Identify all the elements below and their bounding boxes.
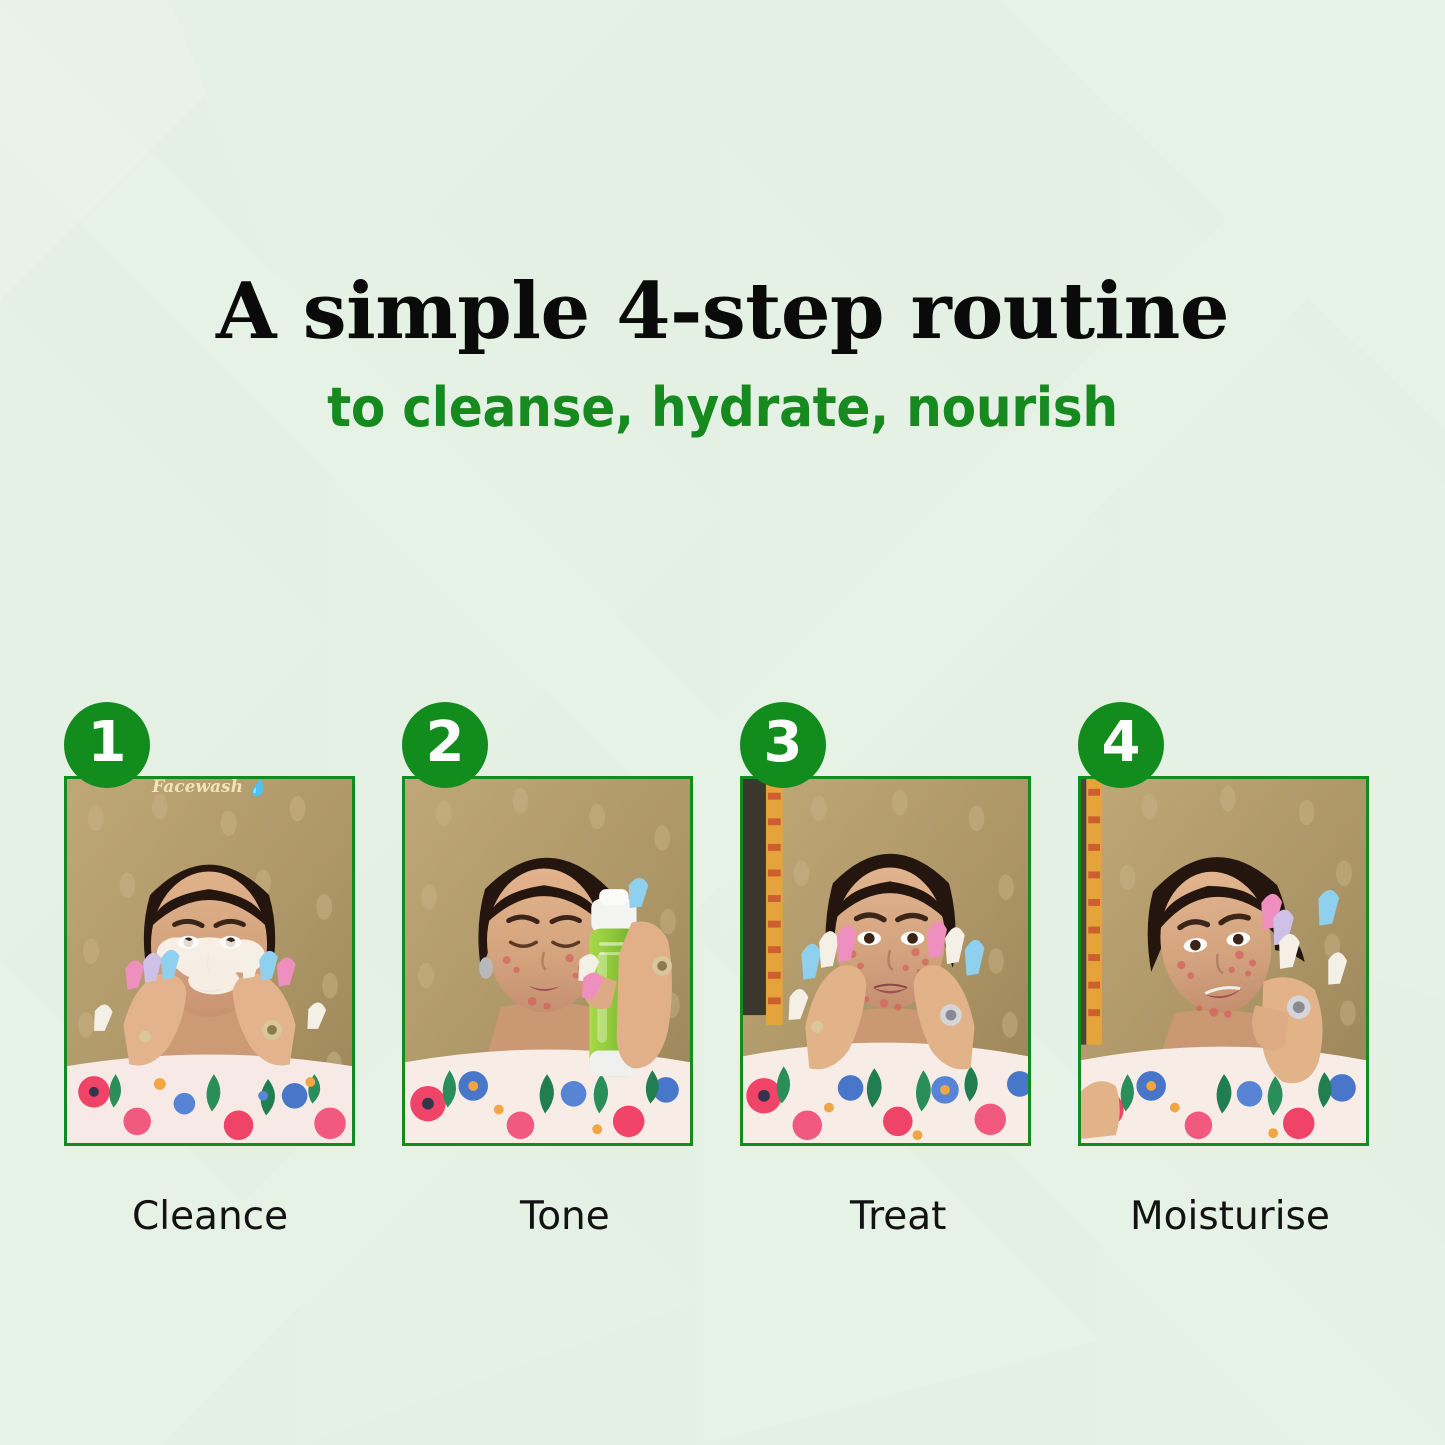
step-photo-1: Facewash 💧 [64,776,355,1146]
step-caption-2: Tone [402,1194,693,1239]
step-number-4: 4 [1102,715,1141,771]
step-caption-3: Treat [740,1194,1031,1239]
step-caption-1: Cleance [64,1194,355,1239]
step-badge-3: 3 [740,702,826,788]
page-title: A simple 4-step routine [0,272,1445,352]
step-badge-4: 4 [1078,702,1164,788]
header: A simple 4-step routine to cleanse, hydr… [0,0,1445,439]
step-number-3: 3 [764,715,803,771]
overlay-text-1: Facewash [152,777,243,797]
step-number-1: 1 [88,715,127,771]
step-photo-3 [740,776,1031,1146]
step-photo-2 [402,776,693,1146]
step-caption-4: Moisturise [1078,1194,1369,1239]
page-subtitle: to cleanse, hydrate, nourish [51,376,1395,439]
water-droplet-emoji: 💧 [247,778,267,797]
photo-overlay-caption-1: Facewash 💧 [152,777,267,797]
step-badge-1: 1 [64,702,150,788]
step-number-2: 2 [426,715,465,771]
step-photo-4 [1078,776,1369,1146]
step-badge-2: 2 [402,702,488,788]
